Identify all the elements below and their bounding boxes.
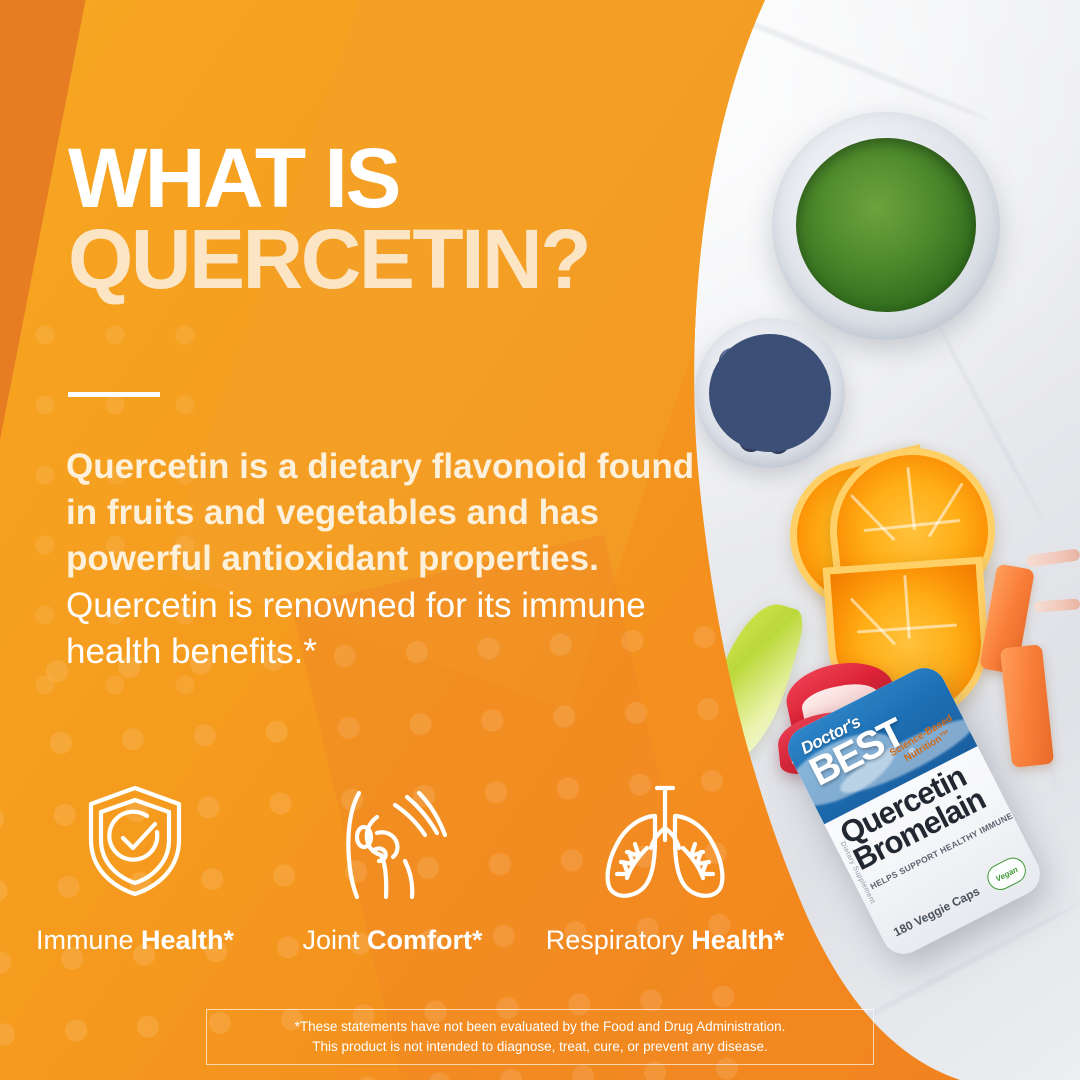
shield-check-icon	[0, 778, 270, 903]
disclaimer-line-2: This product is not intended to diagnose…	[312, 1037, 768, 1057]
lungs-icon	[515, 778, 815, 903]
benefit-respiratory-health[interactable]: Respiratory Health*	[515, 778, 815, 956]
benefit-label-bold: Health*	[691, 925, 784, 955]
headline-line-1: WHAT IS	[68, 138, 589, 219]
benefit-label-bold: Comfort*	[367, 925, 483, 955]
benefit-label-normal: Respiratory	[546, 925, 692, 955]
headline-line-2: QUERCETIN?	[68, 219, 589, 300]
page-title: WHAT IS QUERCETIN?	[68, 138, 589, 301]
disclaimer-line-1: *These statements have not been evaluate…	[295, 1017, 786, 1037]
benefit-immune-health[interactable]: Immune Health*	[0, 778, 270, 956]
body-copy: Quercetin is a dietary flavonoid found i…	[66, 444, 706, 675]
title-divider	[68, 392, 160, 397]
benefit-label: Joint Comfort*	[270, 925, 515, 956]
body-copy-bold: Quercetin is a dietary flavonoid found i…	[66, 447, 694, 578]
knee-joint-icon	[270, 778, 515, 903]
content-layer: WHAT IS QUERCETIN? Quercetin is a dietar…	[0, 0, 1080, 1080]
benefit-label: Immune Health*	[0, 925, 270, 956]
benefits-row: Immune Health*	[0, 778, 840, 956]
benefit-label-normal: Immune	[36, 925, 141, 955]
disclaimer-box: *These statements have not been evaluate…	[206, 1009, 874, 1065]
benefit-label: Respiratory Health*	[515, 925, 815, 956]
body-copy-regular: Quercetin is renowned for its immune hea…	[66, 586, 646, 671]
benefit-joint-comfort[interactable]: Joint Comfort*	[270, 778, 515, 956]
promo-graphic: Doctor's BEST ® Science-Based Nutrition™…	[0, 0, 1080, 1080]
benefit-label-normal: Joint	[302, 925, 367, 955]
benefit-label-bold: Health*	[141, 925, 234, 955]
